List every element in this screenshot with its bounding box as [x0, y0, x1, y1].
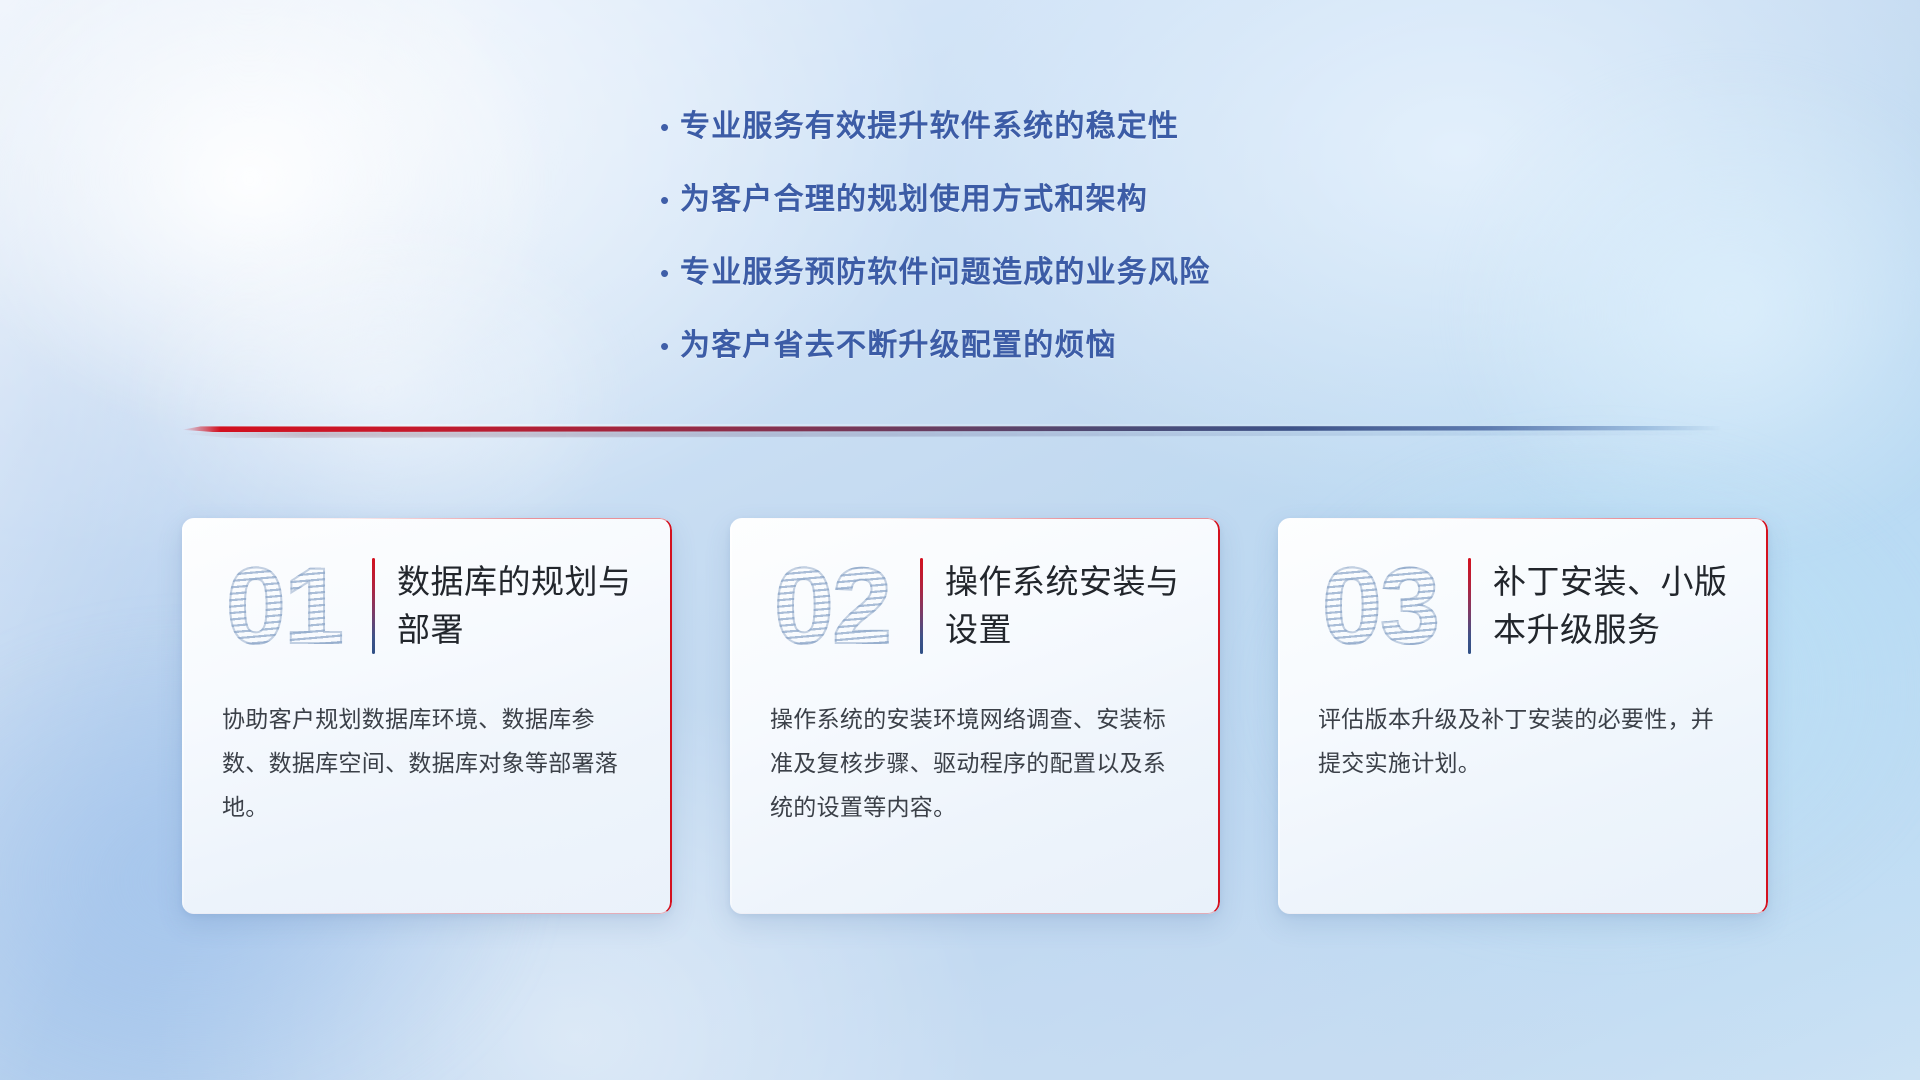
bullet-dot-icon: • [660, 323, 680, 369]
card-title-rule [1468, 558, 1471, 654]
card-number-badge: 03 [1296, 544, 1464, 668]
card-title-rule [920, 558, 923, 654]
background-glow-top-left [0, 0, 560, 440]
card-header: 01 数据库的规划与部署 [182, 518, 672, 693]
list-item: • 专业服务预防软件问题造成的业务风险 [660, 250, 1480, 296]
service-card-02[interactable]: 02 操作系统安装与设置 操作系统的安装环境网络调查、安装标准及复核步骤、驱动程… [730, 518, 1220, 914]
divider-shadow [182, 431, 1722, 438]
card-description: 评估版本升级及补丁安装的必要性，并提交实施计划。 [1278, 697, 1768, 785]
bullet-text: 专业服务预防软件问题造成的业务风险 [680, 250, 1210, 296]
benefits-bullet-list: • 专业服务有效提升软件系统的稳定性 • 为客户合理的规划使用方式和架构 • 专… [660, 104, 1480, 396]
divider-highlight [182, 424, 1722, 427]
list-item: • 为客户省去不断升级配置的烦恼 [660, 323, 1480, 369]
service-card-group: 01 数据库的规划与部署 协助客户规划数据库环境、数据库参数、数据库空间、数据库… [182, 518, 1768, 938]
card-header: 03 补丁安装、小版本升级服务 [1278, 518, 1768, 693]
bullet-dot-icon: • [660, 104, 680, 150]
list-item: • 为客户合理的规划使用方式和架构 [660, 177, 1480, 223]
card-header: 02 操作系统安装与设置 [730, 518, 1220, 693]
card-description: 协助客户规划数据库环境、数据库参数、数据库空间、数据库对象等部署落地。 [182, 697, 672, 829]
bullet-dot-icon: • [660, 177, 680, 223]
card-title-rule [372, 558, 375, 654]
slide-canvas: • 专业服务有效提升软件系统的稳定性 • 为客户合理的规划使用方式和架构 • 专… [0, 0, 1920, 1080]
section-divider [182, 418, 1722, 440]
card-title: 补丁安装、小版本升级服务 [1493, 558, 1745, 654]
card-description: 操作系统的安装环境网络调查、安装标准及复核步骤、驱动程序的配置以及系统的设置等内… [730, 697, 1220, 829]
background-glow-mid-left [120, 210, 640, 570]
service-card-01[interactable]: 01 数据库的规划与部署 协助客户规划数据库环境、数据库参数、数据库空间、数据库… [182, 518, 672, 914]
bullet-text: 为客户合理的规划使用方式和架构 [680, 177, 1148, 223]
background-glow-top-right [1450, 60, 1920, 560]
list-item: • 专业服务有效提升软件系统的稳定性 [660, 104, 1480, 150]
card-title: 数据库的规划与部署 [397, 558, 649, 654]
bullet-dot-icon: • [660, 250, 680, 296]
bullet-text: 专业服务有效提升软件系统的稳定性 [680, 104, 1179, 150]
bullet-text: 为客户省去不断升级配置的烦恼 [680, 323, 1117, 369]
service-card-03[interactable]: 03 补丁安装、小版本升级服务 评估版本升级及补丁安装的必要性，并提交实施计划。 [1278, 518, 1768, 914]
card-number-badge: 02 [748, 544, 916, 668]
card-number-badge: 01 [200, 544, 368, 668]
card-title: 操作系统安装与设置 [945, 558, 1197, 654]
